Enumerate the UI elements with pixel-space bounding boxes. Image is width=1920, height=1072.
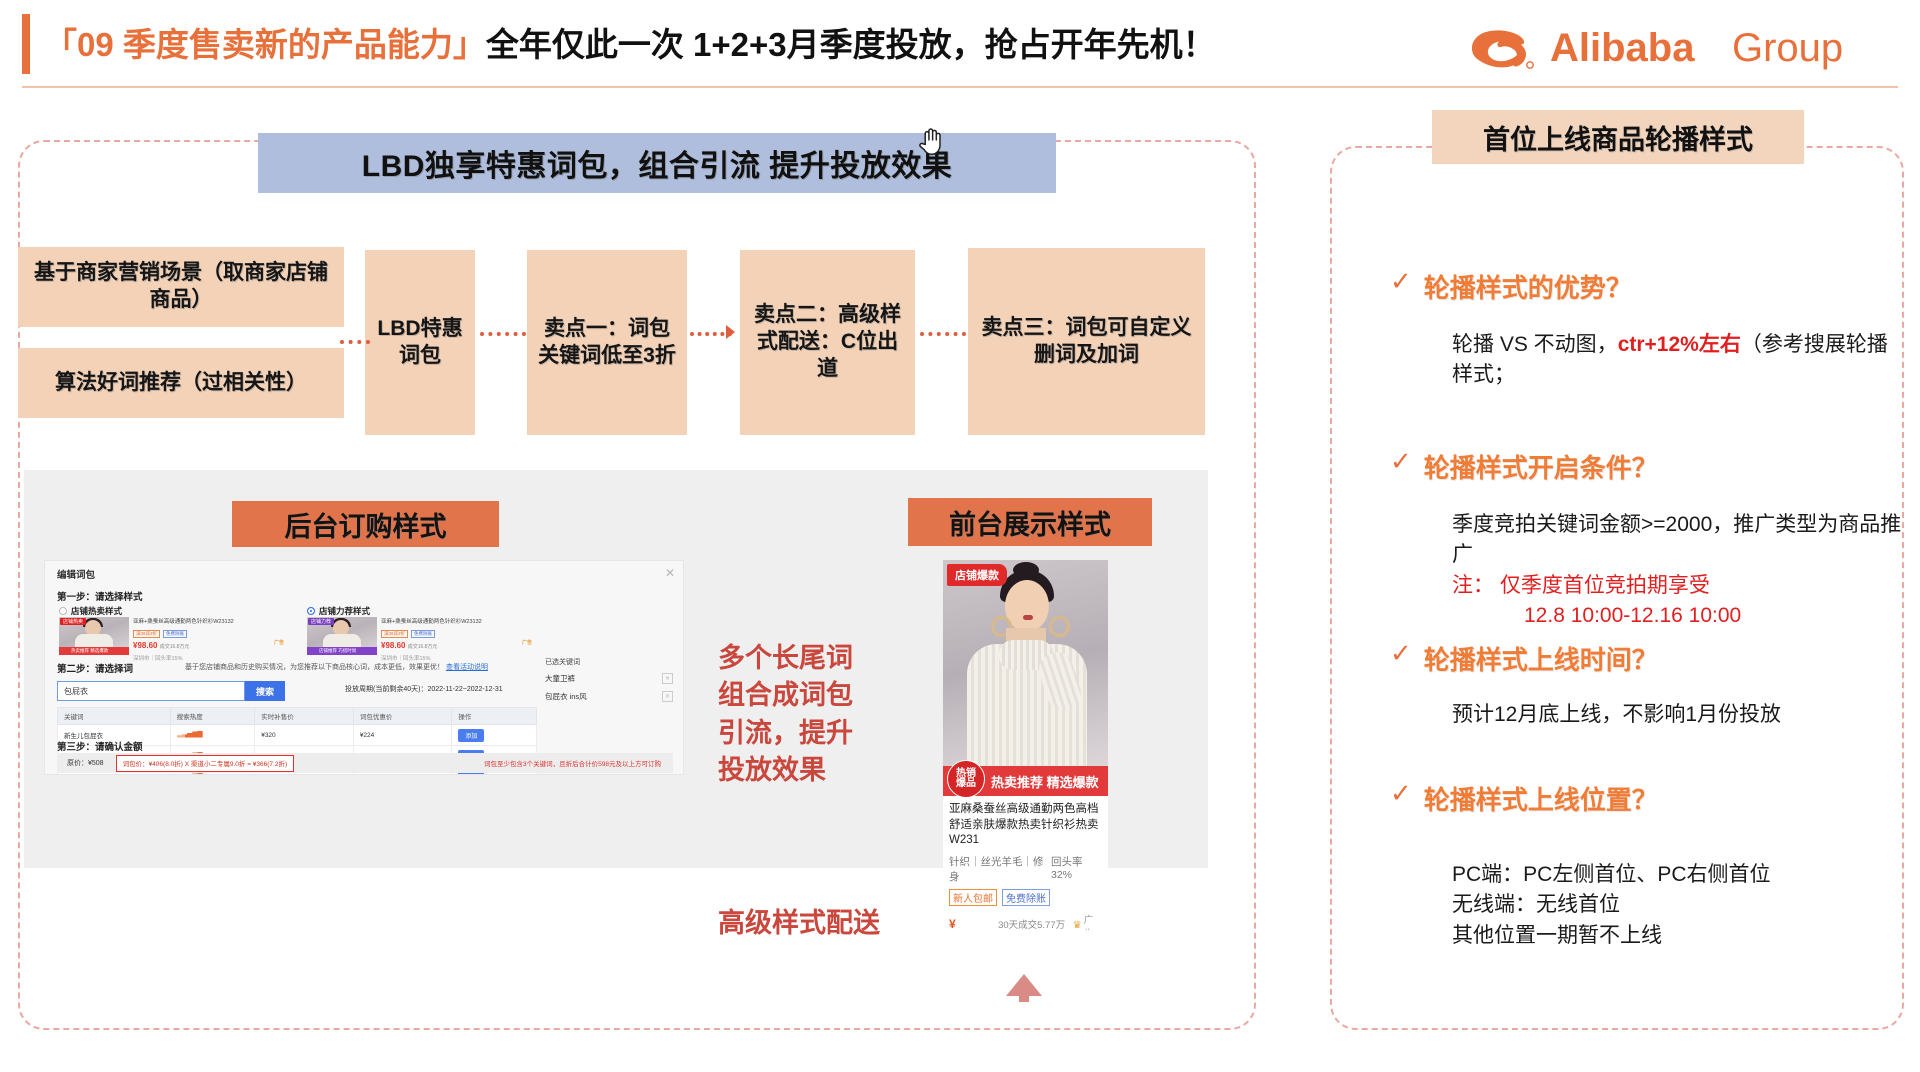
question-launch-position: ✓ 轮播样式上线位置？: [1390, 780, 1658, 817]
col-pkg-price: 词包优惠价: [353, 708, 452, 725]
right-panel-banner: 首位上线商品轮播样式: [1432, 110, 1804, 164]
condition-note-red-2: 12.8 10:00-12.16 10:00: [1452, 601, 1902, 631]
preview-ad-label: 广告: [274, 640, 284, 648]
cell-pkg-price: ¥224: [353, 725, 452, 746]
question-advantage-body: 轮播 VS 不动图，ctr+12%左右（参考搜展轮播样式；: [1452, 330, 1892, 391]
annotation-advanced-style: 高级样式配送: [718, 905, 880, 942]
preview-title: 亚麻+桑蚕丝高级通勤两色针织衫W23132: [381, 618, 532, 627]
question-launch-time-title: 轮播样式上线时间？: [1424, 640, 1658, 677]
advantage-ctr-highlight: ctr+12%左右: [1618, 333, 1741, 356]
product-photo: 店铺爆款: [943, 560, 1108, 766]
svg-text:Alibaba: Alibaba: [1550, 26, 1695, 70]
preview-thumbnail: 店铺力荐 店铺推荐 巧搭时尚: [307, 617, 377, 655]
backend-step-3: 第三步：请确认金额: [57, 739, 143, 753]
col-heat: 搜索热度: [170, 708, 255, 725]
search-input[interactable]: 包屁衣: [57, 681, 245, 701]
question-launch-position-body: PC端：PC左侧首位、PC右侧首位 无线端：无线首位 其他位置一期暂不上线: [1452, 860, 1902, 951]
preview-strip: 店铺推荐 巧搭时尚: [307, 647, 377, 655]
remove-icon[interactable]: ✕: [662, 673, 673, 684]
style-option-hot[interactable]: 店铺热卖样式: [59, 605, 122, 617]
flow-box-selling-point-3: 卖点三：词包可自定义删词及加词: [968, 248, 1205, 435]
preview-sold: 成交16.8万元: [408, 644, 438, 650]
col-keyword: 关键词: [58, 708, 171, 725]
remove-icon[interactable]: ✕: [662, 691, 673, 702]
product-hot-badge: 店铺爆款: [947, 564, 1007, 586]
radio-icon[interactable]: [59, 607, 67, 615]
preview-ad-label: 广告: [522, 640, 532, 648]
question-open-condition-title: 轮播样式开启条件？: [1424, 448, 1658, 485]
cell-real-price: ¥320: [255, 725, 354, 746]
style-preview-recommend: 店铺力荐 店铺推荐 巧搭时尚 亚麻+桑蚕丝高级通勤两色针织衫W23132 满39…: [307, 617, 532, 655]
check-icon: ✓: [1390, 640, 1412, 666]
selected-keyword-item: 包屁衣 ins风 ✕: [545, 691, 673, 702]
product-promo-strip: 热销 爆品 热卖推荐 精选爆款: [943, 766, 1108, 796]
close-icon[interactable]: ✕: [665, 566, 675, 580]
ad-label: 广告: [1084, 912, 1102, 930]
flow-arrow-icon: [726, 325, 735, 339]
col-action: 操作: [452, 708, 537, 725]
product-tag-free-return: 免费除账: [1002, 889, 1050, 906]
hot-sale-circle-badge: 热销 爆品: [947, 760, 985, 798]
alibaba-group-logo: Alibaba Group: [1464, 20, 1904, 76]
flow-box-lbd-package: LBD特惠词包: [365, 250, 475, 435]
package-price-formula: 词包价：¥406(8.0折) X 渠道小二专属9.0折 = ¥366(7.2折): [116, 755, 295, 772]
preview-strip-text: 热卖推荐 精选爆款: [71, 648, 108, 654]
advantage-body-pre: 轮播 VS 不动图，: [1452, 333, 1618, 356]
style-preview-hot: 店铺热卖 热卖推荐 精选爆款 亚麻+桑蚕丝高级通勤两色针织衫W23132 满39…: [59, 617, 284, 655]
header-divider: [22, 86, 1898, 88]
style-option-hot-label: 店铺热卖样式: [71, 605, 122, 617]
hot-sale-line-2: 爆品: [956, 779, 976, 790]
flow-box-selling-point-1: 卖点一：词包关键词低至3折: [527, 250, 687, 435]
product-card[interactable]: 店铺爆款 热销 爆品 热卖推荐 精选爆款 亚麻桑蚕丝高级通勤两色高档舒适亲肤爆款…: [943, 560, 1108, 930]
callout-arrow-icon: [805, 960, 1055, 1002]
table-header-row: 关键词 搜索热度 实时补售价 词包优惠价 操作: [58, 708, 537, 725]
selected-keyword-label: 包屁衣 ins风: [545, 691, 587, 702]
flow-box-source-scene: 基于商家营销场景（取商家店铺商品）: [18, 247, 344, 327]
activity-description-link[interactable]: 查看活动说明: [446, 664, 488, 671]
annotation-longtail: 多个长尾词组合成词包引流，提升投放效果: [718, 640, 878, 789]
flow-box-selling-point-2: 卖点二：高级样式配送：C位出道: [740, 250, 915, 435]
heat-bar-icon: [177, 731, 203, 738]
slide-root: 「09 季度售卖新的产品能力」全年仅此一次 1+2+3月季度投放，抢占开年先机！…: [0, 0, 1920, 1072]
flow-box-algo-recommend: 算法好词推荐（过相关性）: [18, 348, 344, 418]
product-attr-text: 针织｜丝光羊毛｜修身: [949, 854, 1051, 884]
selected-keywords-title: 已选关键词: [545, 657, 673, 667]
preview-badge: 店铺热卖: [60, 618, 86, 625]
cell-heat: [170, 725, 255, 746]
selected-keywords-pane: 已选关键词 大童卫裤 ✕ 包屁衣 ins风 ✕: [545, 657, 673, 709]
hand-cursor-icon: [917, 126, 945, 156]
question-launch-time-body: 预计12月底上线，不影响1月份投放: [1452, 700, 1902, 730]
product-attributes: 针织｜丝光羊毛｜修身 回头率32%: [949, 854, 1102, 884]
flow-connector-2: [480, 332, 526, 336]
search-button[interactable]: 搜索: [245, 681, 285, 701]
style-option-recommend[interactable]: 店铺力荐样式: [307, 605, 370, 617]
flow-connector-1: [340, 340, 370, 344]
preview-tag-2: 免费除账: [411, 630, 435, 639]
question-open-condition-body: 季度竞拍关键词金额>=2000，推广类型为商品推广 注： 仅季度首位竞拍期享受 …: [1452, 510, 1902, 632]
product-price-row: ¥ 88.0 30天成交5.77万元 ♛ 广告: [949, 912, 1102, 930]
radio-selected-icon[interactable]: [307, 607, 315, 615]
product-tags: 新人包邮 免费除账: [949, 889, 1102, 906]
preview-tag-2: 免费除账: [163, 630, 187, 639]
product-tag-newbie-free-shipping: 新人包邮: [949, 889, 997, 906]
position-line-3: 其他位置一期暂不上线: [1452, 921, 1902, 951]
page-title-highlight: 「09 季度售卖新的产品能力」: [44, 26, 486, 63]
preview-thumbnail: 店铺热卖 热卖推荐 精选爆款: [59, 617, 129, 655]
flow-connector-4: [920, 332, 966, 336]
crown-icon: ♛: [1073, 920, 1082, 930]
preview-text-block: 亚麻+桑蚕丝高级通勤两色针织衫W23132 满39减3折 免费除账 ¥98.60…: [133, 617, 284, 655]
selected-keyword-item: 大童卫裤 ✕: [545, 673, 673, 684]
backend-note-text: 基于您店铺商品和历史购买情况，为您推荐以下商品核心词，成本更低，效果更优！: [185, 664, 444, 671]
preview-sold: 成交16.8万元: [160, 644, 190, 650]
question-advantage-title: 轮播样式的优势？: [1424, 268, 1632, 305]
preview-price: ¥98.60: [381, 641, 405, 650]
original-price: 原价：¥508: [67, 758, 104, 768]
check-icon: ✓: [1390, 268, 1412, 294]
header-accent-bar: [22, 14, 30, 74]
preview-badge: 店铺力荐: [308, 618, 334, 625]
add-button[interactable]: 添加: [458, 729, 484, 742]
backend-step-1: 第一步：请选择样式: [57, 589, 143, 603]
order-warning: 词包至少包含3个关键词，且折后合计价598元及以上方可订购: [484, 758, 661, 768]
promo-strip-text: 热卖推荐 精选爆款: [991, 772, 1099, 791]
page-title-main: 全年仅此一次 1+2+3月季度投放，抢占开年先机！: [486, 26, 1216, 63]
tag-frontend-style: 前台展示样式: [908, 498, 1152, 546]
product-price: ¥ 88.0: [949, 915, 994, 930]
position-line-1: PC端：PC左侧首位、PC右侧首位: [1452, 860, 1902, 890]
preview-price: ¥98.60: [133, 641, 157, 650]
backend-note: 基于您店铺商品和历史购买情况，为您推荐以下商品核心词，成本更低，效果更优！ 查看…: [185, 662, 488, 672]
page-title: 「09 季度售卖新的产品能力」全年仅此一次 1+2+3月季度投放，抢占开年先机！: [44, 18, 1216, 66]
question-advantage: ✓ 轮播样式的优势？: [1390, 268, 1632, 305]
currency-symbol: ¥: [949, 917, 956, 930]
preview-strip-text: 店铺推荐 巧搭时尚: [319, 648, 356, 654]
backend-title: 编辑词包: [57, 567, 95, 581]
check-icon: ✓: [1390, 448, 1412, 474]
question-launch-position-title: 轮播样式上线位置？: [1424, 780, 1658, 817]
product-info: 亚麻桑蚕丝高级通勤两色高档舒适亲肤爆款热卖针织衫热卖W231 针织｜丝光羊毛｜修…: [943, 796, 1108, 930]
backend-step-2: 第二步：请选择词: [57, 661, 133, 675]
condition-line-1: 季度竞拍关键词金额>=2000，推广类型为商品推广: [1452, 510, 1902, 571]
delivery-period: 投放周期(当前剩余40天)：2022-11-22~2022-12-31: [345, 684, 503, 694]
preview-title: 亚麻+桑蚕丝高级通勤两色针织衫W23132: [133, 618, 284, 627]
col-real-price: 实时补售价: [255, 708, 354, 725]
ad-marker: ♛ 广告: [1073, 912, 1102, 930]
preview-strip: 热卖推荐 精选爆款: [59, 647, 129, 655]
selected-keyword-label: 大童卫裤: [545, 673, 575, 684]
tag-backend-style: 后台订购样式: [232, 501, 499, 547]
preview-text-block: 亚麻+桑蚕丝高级通勤两色针织衫W23132 满39减3折 免费除账 ¥98.60…: [381, 617, 532, 655]
condition-note-red-1: 注： 仅季度首位竞拍期享受: [1452, 571, 1902, 601]
preview-tag-1: 满39减3折: [133, 630, 160, 639]
keyword-search-row[interactable]: 包屁衣 搜索: [57, 681, 285, 701]
question-open-condition: ✓ 轮播样式开启条件？: [1390, 448, 1658, 485]
style-option-recommend-label: 店铺力荐样式: [319, 605, 370, 617]
question-launch-time: ✓ 轮播样式上线时间？: [1390, 640, 1658, 677]
backend-screenshot: 编辑词包 ✕ 第一步：请选择样式 店铺热卖样式 店铺力荐样式 店铺热卖 热卖推荐…: [44, 560, 684, 775]
product-repeat-rate: 回头率32%: [1051, 854, 1102, 884]
slide-header: 「09 季度售卖新的产品能力」全年仅此一次 1+2+3月季度投放，抢占开年先机！…: [0, 14, 1920, 82]
preview-tag-1: 满39减3折: [381, 630, 408, 639]
svg-text:Group: Group: [1732, 26, 1843, 70]
check-icon: ✓: [1390, 780, 1412, 806]
amount-bar: 原价：¥508 词包价：¥406(8.0折) X 渠道小二专属9.0折 = ¥3…: [57, 753, 673, 773]
product-sold: 30天成交5.77万元: [998, 917, 1073, 930]
position-line-2: 无线端：无线首位: [1452, 890, 1902, 920]
product-title[interactable]: 亚麻桑蚕丝高级通勤两色高档舒适亲肤爆款热卖针织衫热卖W231: [949, 802, 1102, 849]
